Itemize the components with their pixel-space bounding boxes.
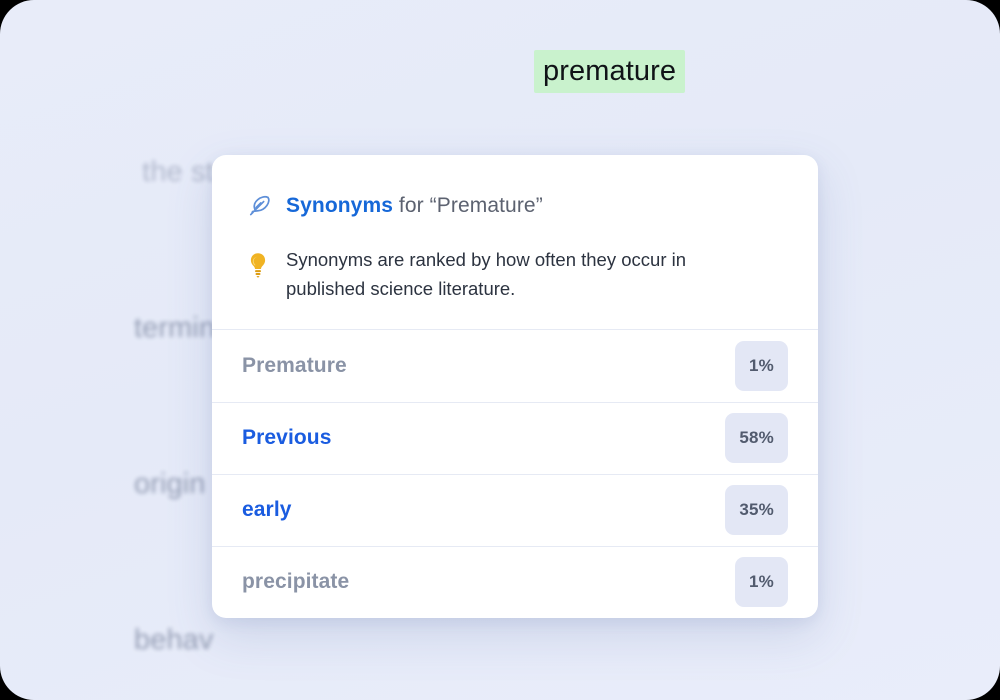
synonym-row[interactable]: Previous 58% — [212, 402, 818, 474]
card-title-row: Synonyms for “Premature” — [246, 193, 784, 219]
card-header: Synonyms for “Premature” Synonyms are ra… — [212, 155, 818, 329]
screen-root: the strains of parental duty iscare term… — [0, 0, 1000, 700]
synonym-word[interactable]: Premature — [242, 354, 347, 378]
synonym-row[interactable]: early 35% — [212, 474, 818, 546]
highlighted-word[interactable]: premature — [534, 50, 685, 93]
card-title-rest: for “Premature” — [393, 194, 543, 217]
card-title-keyword: Synonyms — [286, 194, 393, 217]
synonym-word[interactable]: precipitate — [242, 570, 349, 594]
synonyms-list: Premature 1% Previous 58% early 35% prec… — [212, 330, 818, 618]
synonym-row[interactable]: Premature 1% — [212, 330, 818, 402]
synonym-word[interactable]: early — [242, 498, 292, 522]
card-title: Synonyms for “Premature” — [286, 193, 543, 219]
synonym-percent-badge: 1% — [735, 557, 788, 607]
synonym-percent-badge: 35% — [725, 485, 788, 535]
synonym-row[interactable]: precipitate 1% — [212, 546, 818, 618]
page-surface: the strains of parental duty iscare term… — [0, 0, 1000, 700]
synonym-word[interactable]: Previous — [242, 426, 332, 450]
synonym-percent-badge: 1% — [735, 341, 788, 391]
lightbulb-icon — [246, 251, 270, 281]
card-note-text: Synonyms are ranked by how often they oc… — [286, 245, 736, 303]
background-line-4: behav — [134, 614, 894, 666]
synonym-percent-badge: 58% — [725, 413, 788, 463]
synonyms-popup-card: Synonyms for “Premature” Synonyms are ra… — [212, 155, 818, 618]
feather-icon — [246, 193, 272, 219]
card-note-row: Synonyms are ranked by how often they oc… — [246, 245, 784, 303]
